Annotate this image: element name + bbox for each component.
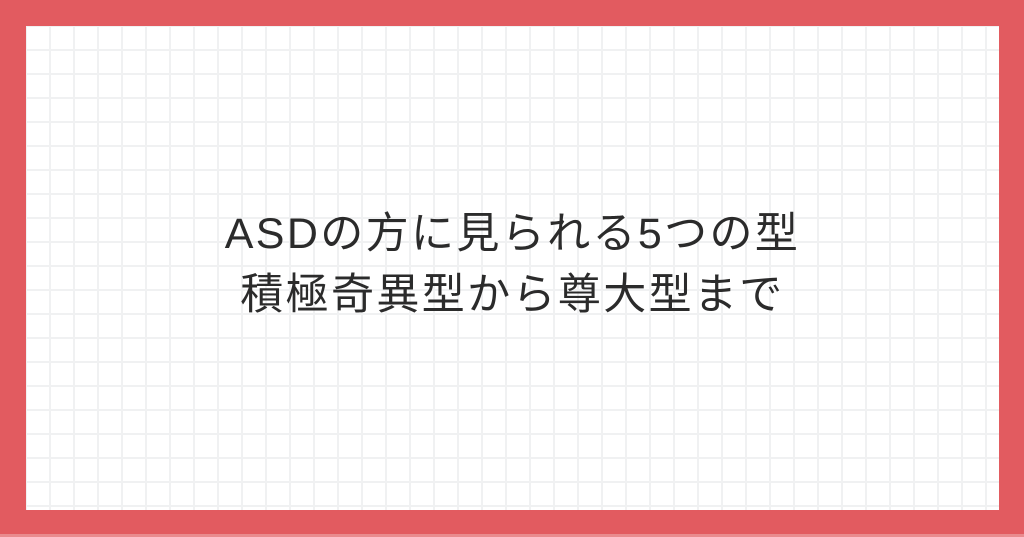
title-line-1: ASDの方に見られる5つの型 xyxy=(225,204,800,265)
grid-paper-panel: ASDの方に見られる5つの型 積極奇異型から尊大型まで xyxy=(26,26,999,510)
title-line-2: 積極奇異型から尊大型まで xyxy=(225,265,800,326)
page-title: ASDの方に見られる5つの型 積極奇異型から尊大型まで xyxy=(225,204,800,332)
title-card-canvas: ASDの方に見られる5つの型 積極奇異型から尊大型まで xyxy=(0,0,1024,537)
